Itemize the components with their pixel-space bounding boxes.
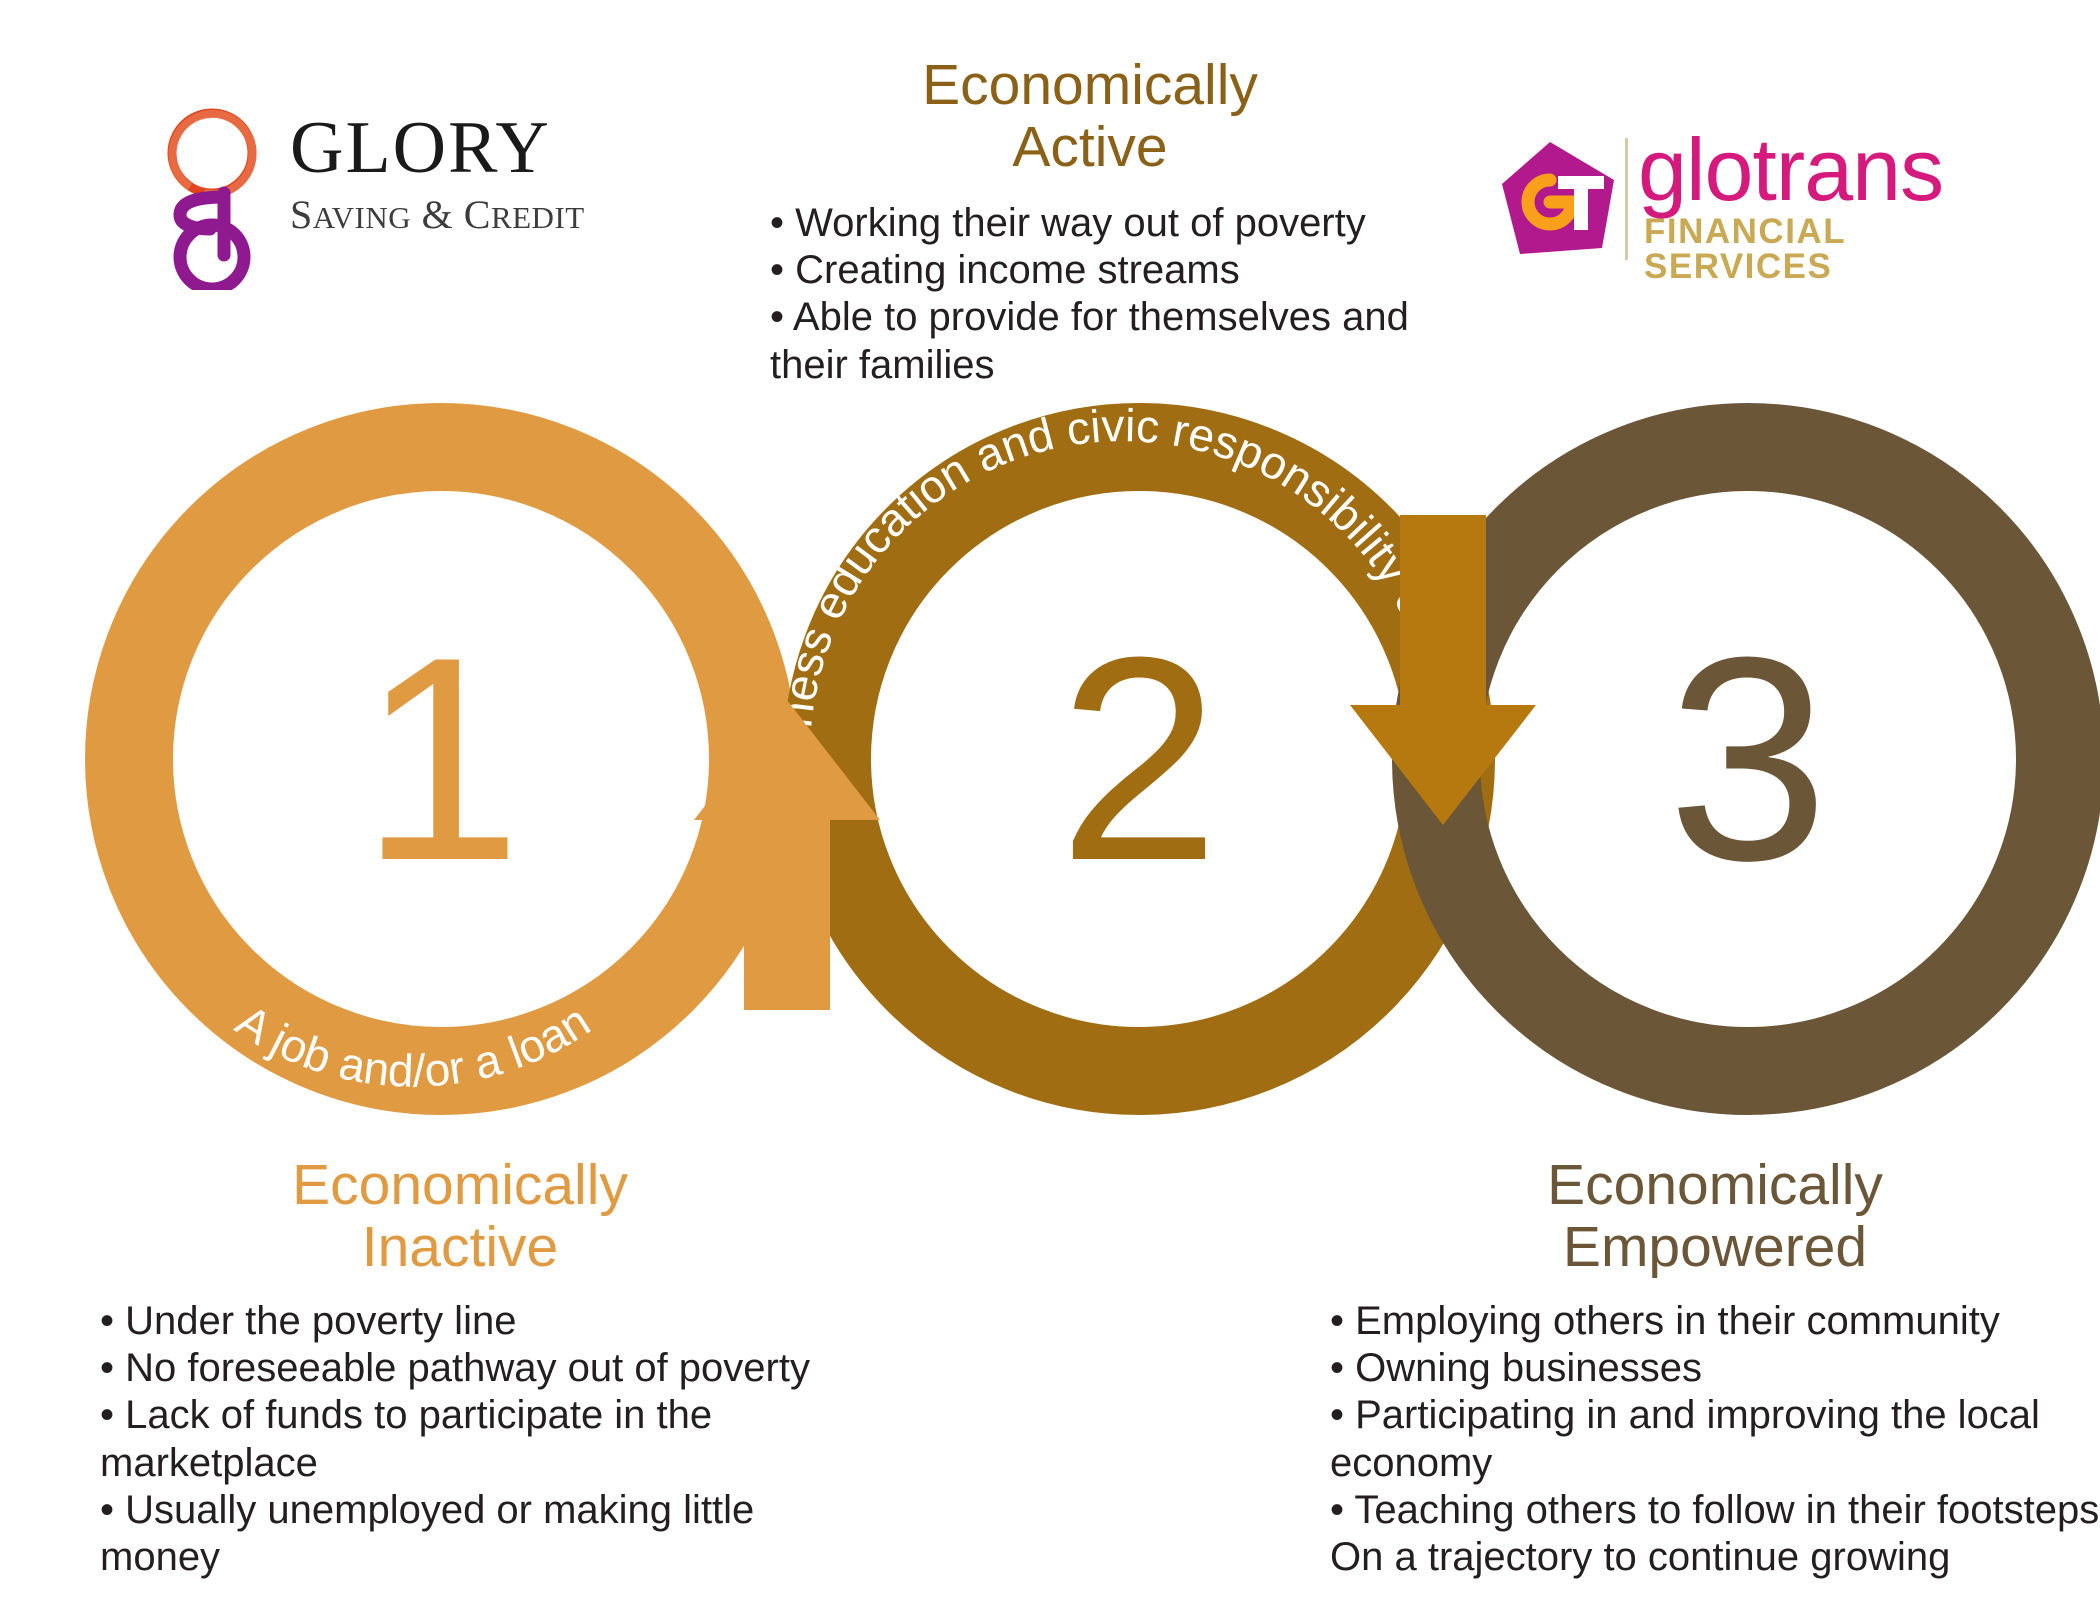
- list-item: • No foreseeable pathway out of poverty: [100, 1345, 820, 1392]
- glory-saving-credit-logo: GLORY SAVING & CREDIT: [150, 105, 650, 295]
- list-item: • Teaching others to follow in their foo…: [1330, 1487, 2100, 1534]
- arrow-down-shape: [1350, 515, 1536, 825]
- list-item: • Usually unemployed or making little mo…: [100, 1487, 820, 1581]
- glory-tagline: SAVING & CREDIT: [290, 195, 650, 235]
- arrow-up-stage1-to-stage2: [620, 690, 880, 1010]
- heading-empowered-line1: Economically: [1547, 1153, 1883, 1217]
- heading-active-line2: Active: [770, 117, 1410, 179]
- heading-economically-active: Economically Active: [770, 55, 1410, 178]
- list-item: • Working their way out of poverty: [770, 200, 1410, 247]
- glory-name: GLORY: [290, 111, 650, 185]
- diagram-canvas: GLORY SAVING & CREDIT glotrans FINANCIAL…: [0, 0, 2100, 1614]
- list-item: • Owning businesses: [1330, 1345, 2100, 1392]
- heading-inactive-line2: Inactive: [100, 1217, 820, 1279]
- stage-circle-2-ring: [827, 447, 1451, 1071]
- stage-circle-1-ring: [129, 447, 753, 1071]
- list-item: • Creating income streams: [770, 247, 1410, 294]
- stage-circle-2: [827, 447, 1451, 1071]
- heading-empowered-line2: Empowered: [1330, 1217, 2100, 1279]
- glory-mark-icon: [150, 105, 280, 290]
- heading-active-line1: Economically: [922, 53, 1258, 117]
- text-block-economically-active: Economically Active • Working their way …: [770, 55, 1410, 389]
- stage-circle-3-ring: [1436, 447, 2060, 1071]
- list-item: On a trajectory to continue growing: [1330, 1534, 2100, 1581]
- list-item: • Under the poverty line: [100, 1298, 820, 1345]
- heading-economically-empowered: Economically Empowered: [1330, 1155, 2100, 1278]
- list-item: • Employing others in their community: [1330, 1298, 2100, 1345]
- bullets-economically-active: • Working their way out of poverty • Cre…: [770, 200, 1410, 389]
- heading-economically-inactive: Economically Inactive: [100, 1155, 820, 1278]
- bullets-economically-empowered: • Employing others in their community • …: [1330, 1298, 2100, 1581]
- arrow-up-shape: [694, 700, 880, 1010]
- text-block-economically-empowered: Economically Empowered • Employing other…: [1330, 1155, 2100, 1581]
- arc-label-job-loan: A job and/or a loan: [227, 994, 598, 1097]
- glory-wordmark: GLORY SAVING & CREDIT: [290, 111, 650, 235]
- list-item: • Lack of funds to participate in the ma…: [100, 1392, 820, 1486]
- glotrans-gt-badge-icon: [1498, 140, 1618, 258]
- stage-circle-1: A job and/or a loan: [129, 447, 753, 1097]
- stage-circle-3: [1436, 447, 2060, 1071]
- bullets-economically-inactive: • Under the poverty line • No foreseeabl…: [100, 1298, 820, 1581]
- stage-number-2: 2: [1058, 597, 1219, 921]
- glotrans-wordmark: glotrans: [1638, 126, 1943, 214]
- text-block-economically-inactive: Economically Inactive • Under the povert…: [100, 1155, 820, 1581]
- glotrans-financial-services-logo: glotrans FINANCIAL SERVICES: [1498, 140, 1998, 260]
- glotrans-tagline: FINANCIAL SERVICES: [1644, 214, 1998, 284]
- arrow-down-stage2-to-stage3: [1350, 515, 1536, 825]
- list-item: • Able to provide for themselves and the…: [770, 294, 1410, 388]
- heading-inactive-line1: Economically: [292, 1153, 628, 1217]
- stage-number-1: 1: [360, 597, 521, 921]
- stage-number-3: 3: [1667, 597, 1828, 921]
- glotrans-divider: [1625, 138, 1628, 260]
- list-item: • Participating in and improving the loc…: [1330, 1392, 2100, 1486]
